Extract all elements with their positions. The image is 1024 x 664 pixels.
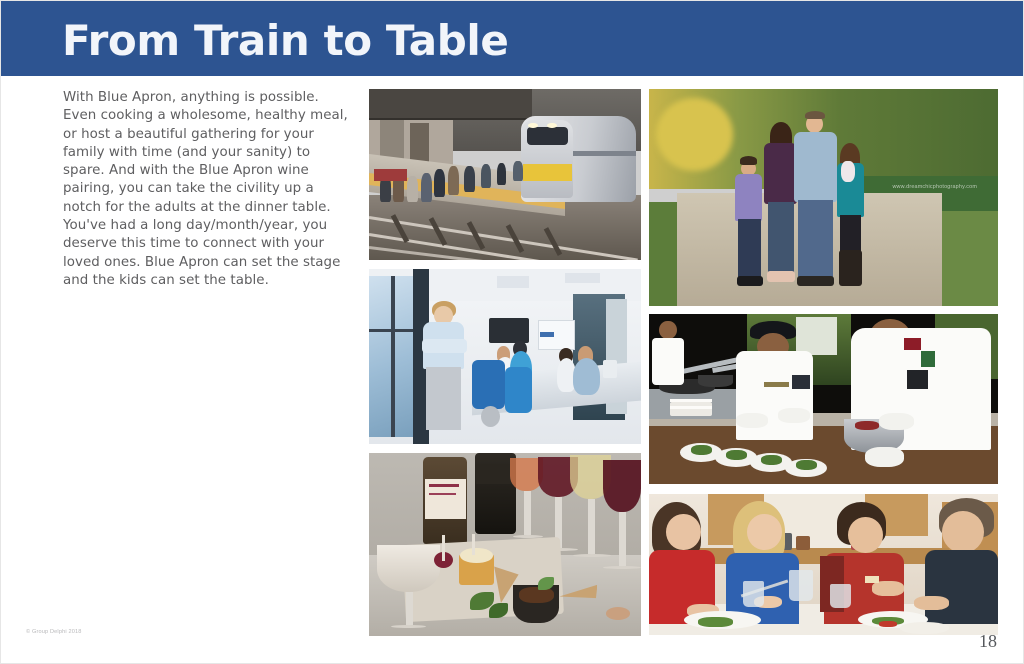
brochure-page: From Train to Table With Blue Apron, any… <box>0 0 1024 664</box>
copyright-notice: © Group Delphi 2018 <box>26 629 81 635</box>
photo-wine-pairing <box>369 453 641 636</box>
photo-train-platform <box>369 89 641 260</box>
page-header-band: From Train to Table <box>1 1 1024 76</box>
photo-family-portrait: www.dreamchicphotography.com <box>649 89 998 306</box>
photo-watermark: www.dreamchicphotography.com <box>892 184 977 190</box>
photo-office-meeting <box>369 269 641 444</box>
page-number: 18 <box>979 631 997 652</box>
page-title: From Train to Table <box>62 13 508 69</box>
photo-family-dinner <box>649 494 998 635</box>
photo-chefs-plating <box>649 314 998 484</box>
body-paragraph: With Blue Apron, anything is possible. E… <box>63 89 351 290</box>
